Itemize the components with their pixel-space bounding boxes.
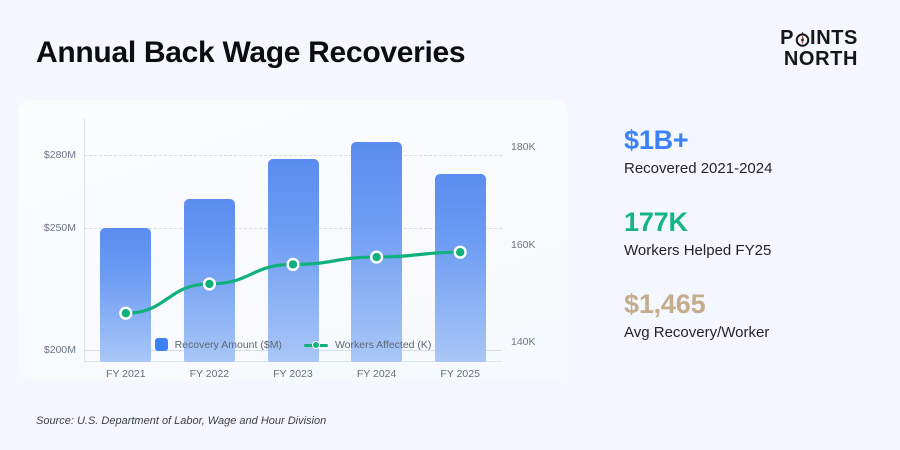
legend-swatch-icon — [155, 338, 168, 351]
brand-logo: P INTS NORTH — [780, 28, 858, 70]
y-axis-right-tick-label: 180K — [511, 141, 536, 153]
brand-points-after: INTS — [810, 28, 858, 49]
legend-label: Recovery Amount ($M) — [175, 339, 282, 351]
y-axis-left-tick-label: $280M — [44, 149, 76, 161]
stat-label: Avg Recovery/Worker — [624, 322, 884, 344]
stat-block: $1B+Recovered 2021-2024 — [624, 124, 884, 180]
line-marker[interactable] — [120, 308, 131, 319]
header: Annual Back Wage Recoveries P INTS NORTH — [0, 0, 900, 96]
stat-label: Recovered 2021-2024 — [624, 158, 884, 180]
stat-value: $1B+ — [624, 124, 884, 156]
legend-line-dot-icon — [304, 338, 328, 351]
stats-panel: $1B+Recovered 2021-2024177KWorkers Helpe… — [624, 124, 884, 370]
stat-block: $1,465Avg Recovery/Worker — [624, 288, 884, 344]
brand-points-before: P — [780, 28, 794, 49]
line-marker[interactable] — [455, 247, 466, 258]
legend-label: Workers Affected (K) — [335, 339, 431, 351]
page-title: Annual Back Wage Recoveries — [36, 36, 465, 70]
stat-value: 177K — [624, 206, 884, 238]
legend-item-recovery-amount[interactable]: Recovery Amount ($M) — [155, 338, 282, 351]
stat-label: Workers Helped FY25 — [624, 240, 884, 262]
line-marker[interactable] — [204, 279, 215, 290]
plot-area: $200M$250M$280M 140K160K180K FY 2021FY 2… — [84, 118, 502, 362]
source-note: Source: U.S. Department of Labor, Wage a… — [36, 415, 326, 427]
x-axis-tick-label: FY 2024 — [337, 368, 417, 380]
chart-card: $200M$250M$280M 140K160K180K FY 2021FY 2… — [18, 100, 568, 380]
legend-item-workers-affected[interactable]: Workers Affected (K) — [304, 338, 431, 351]
y-axis-left-tick-label: $250M — [44, 222, 76, 234]
x-axis-tick-label: FY 2022 — [169, 368, 249, 380]
stat-block: 177KWorkers Helped FY25 — [624, 206, 884, 262]
x-axis-tick-label: FY 2025 — [420, 368, 500, 380]
y-axis-right-tick-label: 160K — [511, 239, 536, 251]
stat-value: $1,465 — [624, 288, 884, 320]
compass-icon — [795, 31, 810, 46]
brand-line-north: NORTH — [780, 49, 858, 70]
line-series — [84, 118, 502, 362]
x-axis-tick-label: FY 2021 — [86, 368, 166, 380]
x-axis-tick-label: FY 2023 — [253, 368, 333, 380]
line-marker[interactable] — [288, 259, 299, 270]
line-marker[interactable] — [371, 252, 382, 263]
brand-line-points: P INTS — [780, 28, 858, 49]
chart-legend: Recovery Amount ($M) Workers Affected (K… — [18, 338, 568, 351]
